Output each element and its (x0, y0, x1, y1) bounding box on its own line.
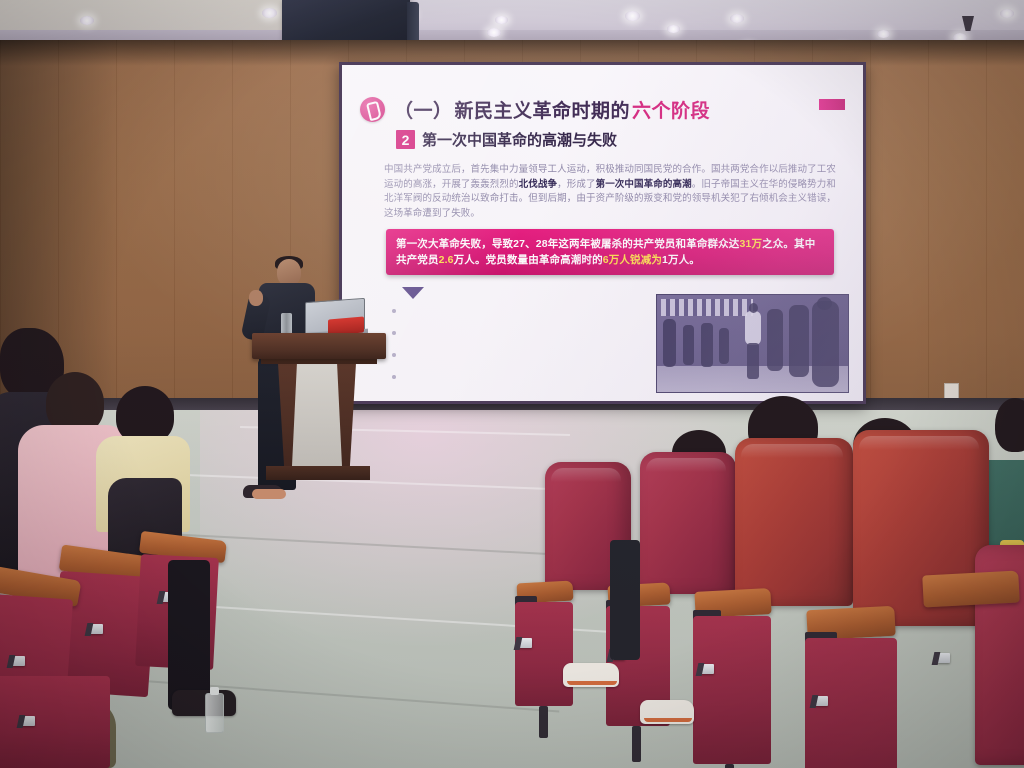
callout-text: 第一次大革命失败，导致27、28年这两年被屠杀的共产党员和革命群众达31万之众。… (396, 236, 824, 268)
audience-shoe (172, 690, 236, 716)
ceiling-light-icon (487, 28, 501, 37)
lecture-hall-photo: （一） 新民主义革命时期的 六个阶段 2 第一次中国革命的高潮与失败 中国共产党… (0, 0, 1024, 768)
historical-photo (656, 294, 849, 393)
presenter-hand (249, 290, 263, 306)
podium-front-panel (292, 362, 342, 466)
ceiling-light-icon (1000, 9, 1014, 18)
slide-corner-tag (819, 99, 845, 110)
ceiling-light-icon (625, 11, 640, 21)
ceiling-light-icon (262, 8, 277, 18)
section-title: 第一次中国革命的高潮与失败 (422, 129, 617, 150)
audience-head (995, 398, 1024, 452)
seat-number-plate (22, 716, 35, 726)
seat-number-plate (701, 664, 714, 674)
slide-title-pink: 六个阶段 (632, 96, 710, 123)
slide-body-text: 中国共产党成立后，首先集中力量领导工人运动，积极推动同国民党的合作。国共两党合作… (384, 163, 836, 221)
ceiling-light-icon (80, 16, 94, 25)
slide-title: （一） 新民主义革命时期的 六个阶段 (394, 96, 710, 123)
presenter-head (277, 259, 301, 286)
projection-screen: （一） 新民主义革命时期的 六个阶段 2 第一次中国革命的高潮与失败 中国共产党… (339, 62, 866, 404)
seat-number-plate (815, 696, 828, 706)
ceiling-light-icon (495, 16, 508, 24)
water-bottle-on-floor (205, 693, 224, 733)
slide-subtitle-row: 2 第一次中国革命的高潮与失败 (396, 129, 617, 150)
bullet-dot-icon (392, 375, 396, 379)
bullet-dot-icon (392, 353, 396, 357)
podium-top (252, 333, 386, 359)
presenter-shoe (252, 489, 286, 499)
seat-number-plate (90, 624, 103, 634)
seat-number-plate (937, 653, 950, 663)
audience-leg (610, 540, 640, 660)
podium-base (266, 466, 370, 480)
slide-callout-box: 第一次大革命失败，导致27、28年这两年被屠杀的共产党员和革命群众达31万之众。… (386, 229, 834, 275)
bullet-dot-icon (392, 309, 396, 313)
seat-number-plate (519, 638, 532, 648)
ceiling-light-icon (730, 14, 744, 23)
slide-bullet-list (392, 309, 396, 397)
presentation-slide: （一） 新民主义革命时期的 六个阶段 2 第一次中国革命的高潮与失败 中国共产党… (342, 65, 863, 401)
slide-title-prefix: （一） (394, 96, 453, 123)
ceiling-light-icon (667, 25, 680, 33)
bullet-dot-icon (392, 331, 396, 335)
section-number-badge: 2 (396, 130, 415, 149)
seat-number-plate (12, 656, 25, 666)
audience-leg (168, 560, 210, 710)
ceiling-light-icon (877, 30, 890, 38)
slide-title-dark: 新民主义革命时期的 (455, 96, 631, 123)
pen-circle-logo-icon (360, 97, 385, 122)
down-triangle-icon (402, 287, 424, 299)
